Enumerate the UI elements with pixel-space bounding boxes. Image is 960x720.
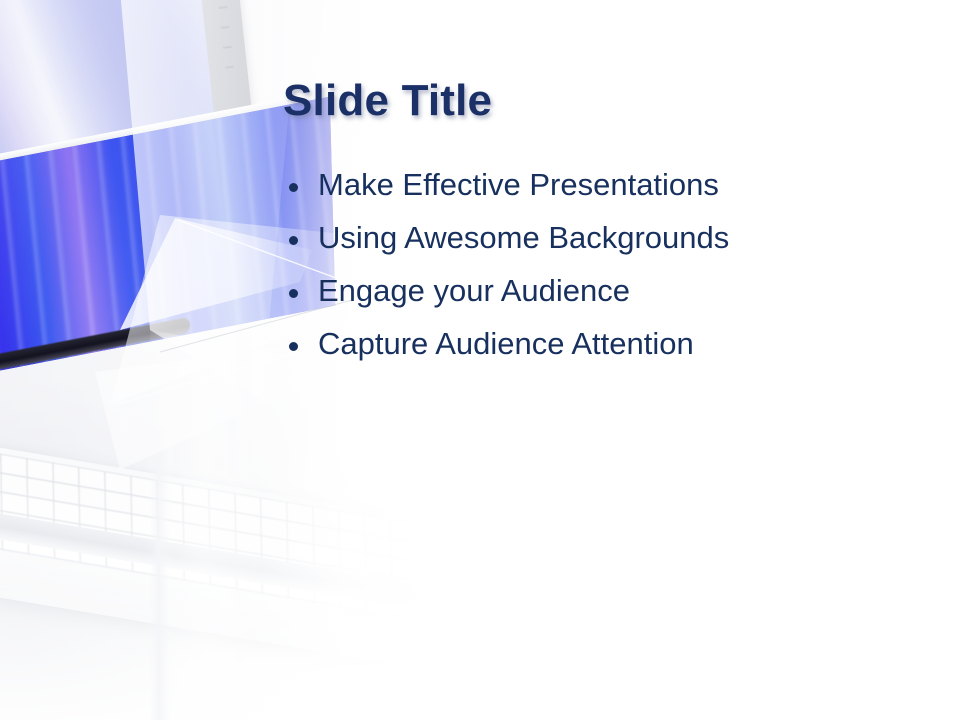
- slide-title[interactable]: Slide Title: [283, 76, 492, 126]
- bullet-item-1[interactable]: Make Effective Presentations: [283, 163, 923, 216]
- bullet-dot-icon: [289, 342, 298, 351]
- bullet-label: Using Awesome Backgrounds: [318, 220, 729, 255]
- bullet-label: Make Effective Presentations: [318, 167, 719, 202]
- bullet-list: Make Effective Presentations Using Aweso…: [283, 163, 923, 375]
- bullet-dot-icon: [289, 289, 298, 298]
- bullet-item-3[interactable]: Engage your Audience: [283, 269, 923, 322]
- bullet-item-2[interactable]: Using Awesome Backgrounds: [283, 216, 923, 269]
- slide-canvas: Slide Title Make Effective Presentations…: [0, 0, 960, 720]
- bullet-label: Engage your Audience: [318, 273, 630, 308]
- bullet-dot-icon: [289, 236, 298, 245]
- bullet-item-4[interactable]: Capture Audience Attention: [283, 322, 923, 375]
- bullet-dot-icon: [289, 183, 298, 192]
- bullet-label: Capture Audience Attention: [318, 326, 694, 361]
